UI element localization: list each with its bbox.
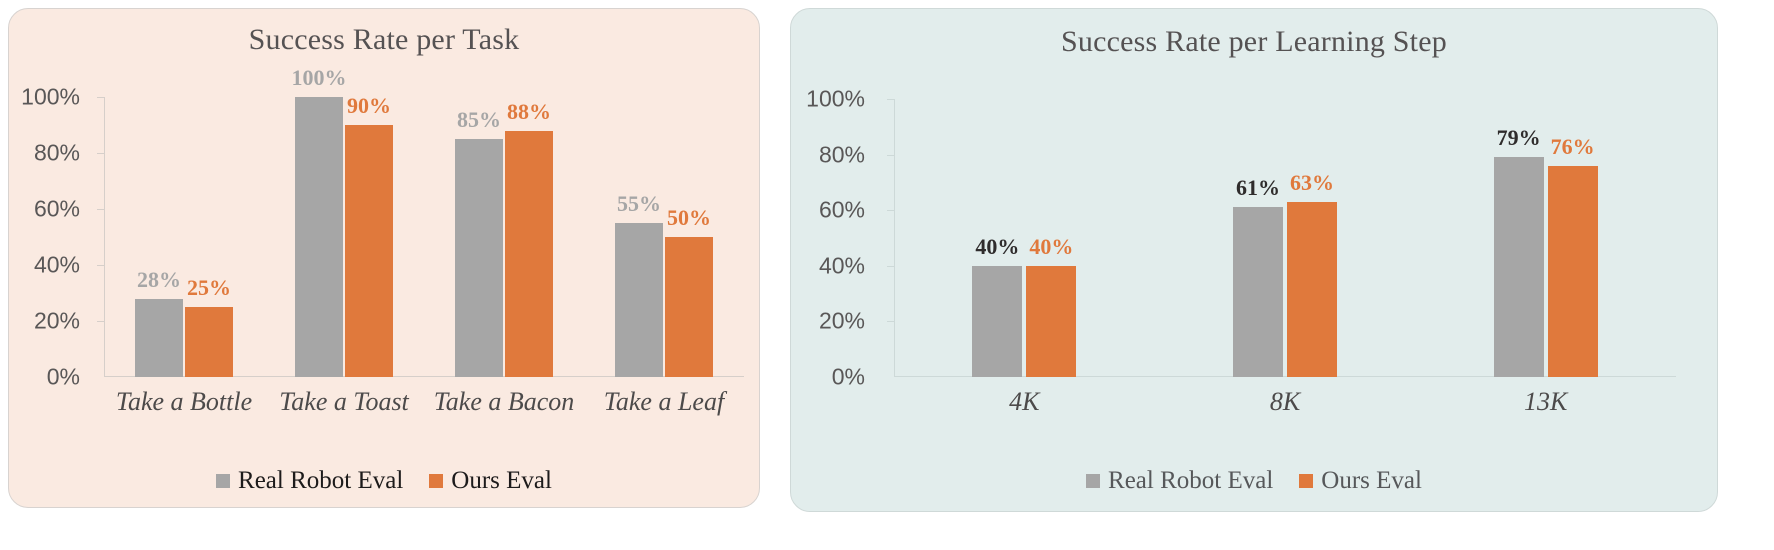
bar-ours-eval[interactable]: [505, 131, 553, 377]
x-axis-category-label: 13K: [1524, 387, 1567, 417]
bar-ours-eval[interactable]: [1026, 266, 1076, 377]
bar-real-robot-eval[interactable]: [615, 223, 663, 377]
y-tick-label: 20%: [819, 308, 865, 335]
y-tick-label: 100%: [21, 84, 80, 111]
bar-value-label: 85%: [457, 107, 501, 133]
legend-swatch-icon: [1299, 474, 1313, 488]
bar-value-label: 61%: [1236, 175, 1280, 201]
legend-item-ours-eval[interactable]: Ours Eval: [1299, 467, 1422, 495]
y-axis-line-right: [894, 99, 895, 377]
bar-real-robot-eval[interactable]: [135, 299, 183, 377]
bar-value-label: 28%: [137, 267, 181, 293]
y-tick-label: 20%: [34, 308, 80, 335]
legend-item-real-robot-eval[interactable]: Real Robot Eval: [1086, 467, 1273, 495]
x-axis-category-label: Take a Toast: [279, 387, 409, 417]
y-tick-label: 80%: [819, 141, 865, 168]
legend-label: Real Robot Eval: [238, 467, 403, 495]
bar-ours-eval[interactable]: [1287, 202, 1337, 377]
y-tick-label: 60%: [819, 197, 865, 224]
bar-value-label: 79%: [1497, 125, 1541, 151]
y-tick-mark: [97, 209, 104, 210]
bar-real-robot-eval[interactable]: [972, 266, 1022, 377]
figure-canvas: Success Rate per Task 100%80%60%40%20%0%…: [0, 0, 1774, 550]
bar-real-robot-eval[interactable]: [1494, 157, 1544, 377]
y-tick-label: 100%: [806, 86, 865, 113]
x-axis-category-label: Take a Bottle: [116, 387, 252, 417]
x-axis-labels-left: Take a BottleTake a ToastTake a BaconTak…: [104, 387, 744, 427]
bar-value-label: 76%: [1551, 134, 1595, 160]
legend-left: Real Robot EvalOurs Eval: [9, 467, 759, 495]
chart-panel-success-rate-per-learning-step: Success Rate per Learning Step 100%80%60…: [790, 8, 1718, 512]
chart-title-right: Success Rate per Learning Step: [791, 25, 1717, 59]
bar-ours-eval[interactable]: [185, 307, 233, 377]
bar-real-robot-eval[interactable]: [1233, 207, 1283, 377]
y-axis-labels-left: 100%80%60%40%20%0%: [14, 97, 92, 377]
legend-item-ours-eval[interactable]: Ours Eval: [429, 467, 552, 495]
legend-label: Ours Eval: [451, 467, 552, 495]
x-axis-category-label: 4K: [1009, 387, 1039, 417]
x-axis-category-label: 8K: [1270, 387, 1300, 417]
bar-value-label: 40%: [975, 234, 1019, 260]
y-tick-label: 80%: [34, 140, 80, 167]
y-tick-mark: [887, 321, 894, 322]
bar-real-robot-eval[interactable]: [295, 97, 343, 377]
x-axis-category-label: Take a Bacon: [434, 387, 575, 417]
bar-ours-eval[interactable]: [665, 237, 713, 377]
y-tick-mark: [887, 266, 894, 267]
legend-item-real-robot-eval[interactable]: Real Robot Eval: [216, 467, 403, 495]
bar-value-label: 55%: [617, 191, 661, 217]
y-axis-labels-right: 100%80%60%40%20%0%: [801, 99, 879, 377]
bar-value-label: 50%: [667, 205, 711, 231]
y-tick-mark: [97, 321, 104, 322]
legend-right: Real Robot EvalOurs Eval: [791, 467, 1717, 495]
y-tick-label: 0%: [47, 364, 80, 391]
plot-area-right: 40%40%61%63%79%76%: [894, 99, 1676, 377]
legend-swatch-icon: [429, 474, 443, 488]
legend-label: Ours Eval: [1321, 467, 1422, 495]
y-tick-label: 0%: [832, 364, 865, 391]
y-tick-label: 40%: [34, 252, 80, 279]
y-tick-mark: [887, 155, 894, 156]
bar-value-label: 63%: [1290, 170, 1334, 196]
y-tick-mark: [887, 210, 894, 211]
bar-value-label: 40%: [1029, 234, 1073, 260]
bar-value-label: 88%: [507, 99, 551, 125]
bar-value-label: 25%: [187, 275, 231, 301]
bar-ours-eval[interactable]: [345, 125, 393, 377]
x-axis-category-label: Take a Leaf: [604, 387, 724, 417]
legend-label: Real Robot Eval: [1108, 467, 1273, 495]
y-tick-label: 60%: [34, 196, 80, 223]
y-tick-mark: [97, 265, 104, 266]
legend-swatch-icon: [1086, 474, 1100, 488]
legend-swatch-icon: [216, 474, 230, 488]
y-tick-label: 40%: [819, 252, 865, 279]
y-tick-mark: [887, 99, 894, 100]
bar-value-label: 90%: [347, 93, 391, 119]
chart-title-left: Success Rate per Task: [9, 23, 759, 57]
y-axis-line-left: [104, 97, 105, 377]
plot-area-left: 28%25%100%90%85%88%55%50%: [104, 97, 744, 377]
bar-value-label: 100%: [292, 65, 347, 91]
y-tick-mark: [97, 97, 104, 98]
x-axis-labels-right: 4K8K13K: [894, 387, 1676, 427]
bar-ours-eval[interactable]: [1548, 166, 1598, 377]
y-tick-mark: [97, 153, 104, 154]
chart-panel-success-rate-per-task: Success Rate per Task 100%80%60%40%20%0%…: [8, 8, 760, 508]
bar-real-robot-eval[interactable]: [455, 139, 503, 377]
